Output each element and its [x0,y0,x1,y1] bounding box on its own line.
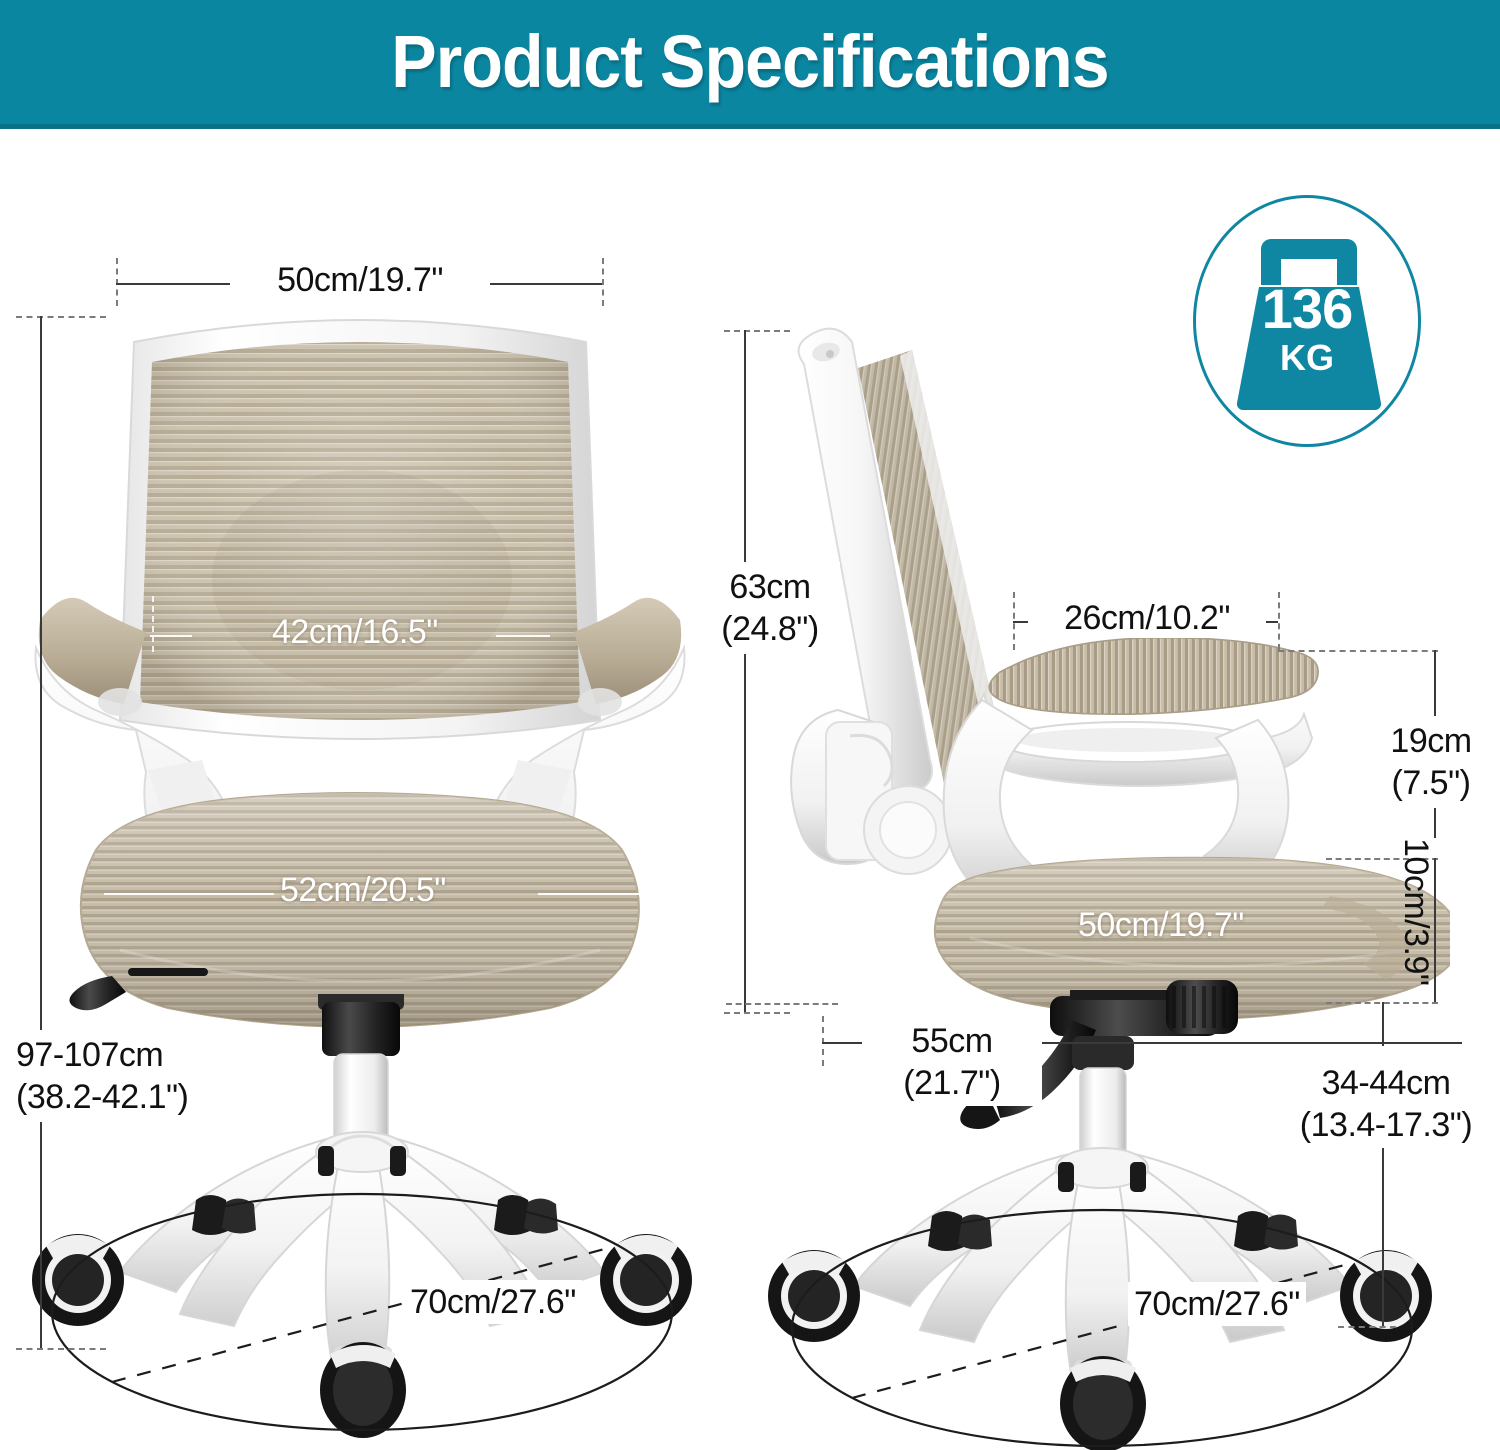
ext-line-height-top [16,316,106,318]
ext-line-backheight-bottom [724,1012,790,1014]
product-specifications-page: Product Specifications 136 KG [0,0,1500,1450]
ext-line-depth-upper [726,1003,838,1005]
ext-line-seatheight-floor [1338,1326,1396,1328]
ext-line-inner-left [152,596,154,652]
caster-wheel [1234,1211,1298,1251]
dim-label-seat-height: 34-44cm (13.4-17.3") [1272,1058,1500,1150]
side-view-chair-illustration [730,290,1450,1450]
page-title: Product Specifications [60,6,1440,118]
dim-label-backrest-inner-width: 42cm/16.5" [272,613,438,652]
dim-line-backrest-height [744,330,746,1012]
dim-label-front-base-diameter: 70cm/27.6" [404,1280,582,1324]
caster-wheel [1340,1250,1432,1342]
caster-wheel [928,1211,992,1251]
header-underline-divider [0,124,1500,129]
ext-line-armheight-top [1278,650,1438,652]
front-view-chair-illustration [0,250,720,1450]
dim-label-backrest-width: 50cm/19.7" [230,260,490,300]
dim-label-armrest-depth: 26cm/10.2" [1028,598,1266,638]
ext-line-backrest-left [116,258,118,306]
ext-line-height-bottom [16,1348,106,1350]
caster-wheel [600,1234,692,1326]
caster-wheel [32,1234,124,1326]
caster-wheel [1060,1356,1146,1450]
dim-line-seatheight-upper [1382,1002,1384,1046]
caster-wheel [192,1195,256,1235]
dim-label-armrest-height: 19cm (7.5") [1362,716,1500,808]
dim-label-backrest-height: 63cm (24.8") [700,562,840,654]
caster-wheel [320,1342,406,1438]
overlay-rule-seat-right [538,893,650,895]
dim-label-overall-height: 97-107cm (38.2-42.1") [14,1030,244,1122]
caster-wheel [494,1195,558,1235]
dim-label-seat-depth: 50cm/19.7" [1078,906,1244,945]
dim-line-seatheight-lower [1382,1148,1384,1326]
ext-line-armrest-right [1278,592,1280,650]
dim-label-seat-thickness: 10cm/3.9" [1398,838,1438,1028]
overlay-rule-inner-right [496,635,550,637]
dim-label-seat-width: 52cm/20.5" [280,871,446,910]
ext-line-depth-left [822,1016,824,1066]
dim-label-overall-depth: 55cm (21.7") [862,1018,1042,1106]
ext-line-backheight-top [724,330,790,332]
dim-label-side-base-diameter: 70cm/27.6" [1128,1282,1306,1326]
overlay-rule-inner-left [150,635,192,637]
caster-wheel [768,1250,860,1342]
overlay-rule-seat-left [104,893,274,895]
dim-line-overall-height [40,316,42,1348]
ext-line-backrest-right [602,258,604,306]
